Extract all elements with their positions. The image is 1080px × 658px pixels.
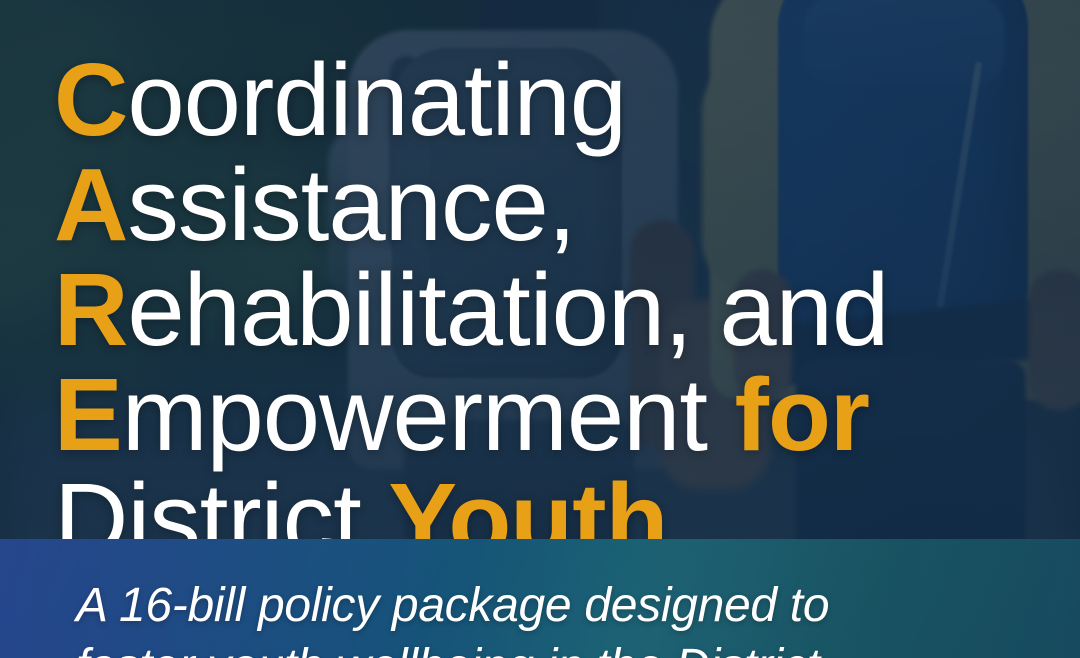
headline-line-2: Assistance,	[54, 152, 1044, 257]
headline-line-3-text: ehabilitation, and	[127, 252, 888, 367]
acrostic-letter-c: C	[54, 42, 127, 157]
page-title: Coordinating Assistance, Rehabilitation,…	[54, 47, 1044, 572]
headline-line-4-text: mpowerment	[122, 357, 735, 472]
headline-line-4: Empowerment for	[54, 362, 1044, 467]
subtitle: A 16-bill policy package designed to fos…	[76, 575, 1036, 658]
headline-line-1: Coordinating	[54, 47, 1044, 152]
acrostic-letter-a: A	[54, 147, 127, 262]
subtitle-line-2: foster youth wellbeing in the District	[76, 636, 1036, 658]
headline-line-1-text: oordinating	[127, 42, 626, 157]
acrostic-letter-r: R	[54, 252, 127, 367]
headline-emphasis-for: for	[735, 357, 869, 472]
care-policy-slide: Coordinating Assistance, Rehabilitation,…	[0, 0, 1080, 658]
headline-line-3: Rehabilitation, and	[54, 257, 1044, 362]
headline-line-2-text: ssistance,	[127, 147, 575, 262]
subtitle-line-1: A 16-bill policy package designed to	[76, 575, 1036, 636]
acrostic-letter-e: E	[54, 357, 122, 472]
subtitle-banner: A 16-bill policy package designed to fos…	[0, 539, 1080, 658]
